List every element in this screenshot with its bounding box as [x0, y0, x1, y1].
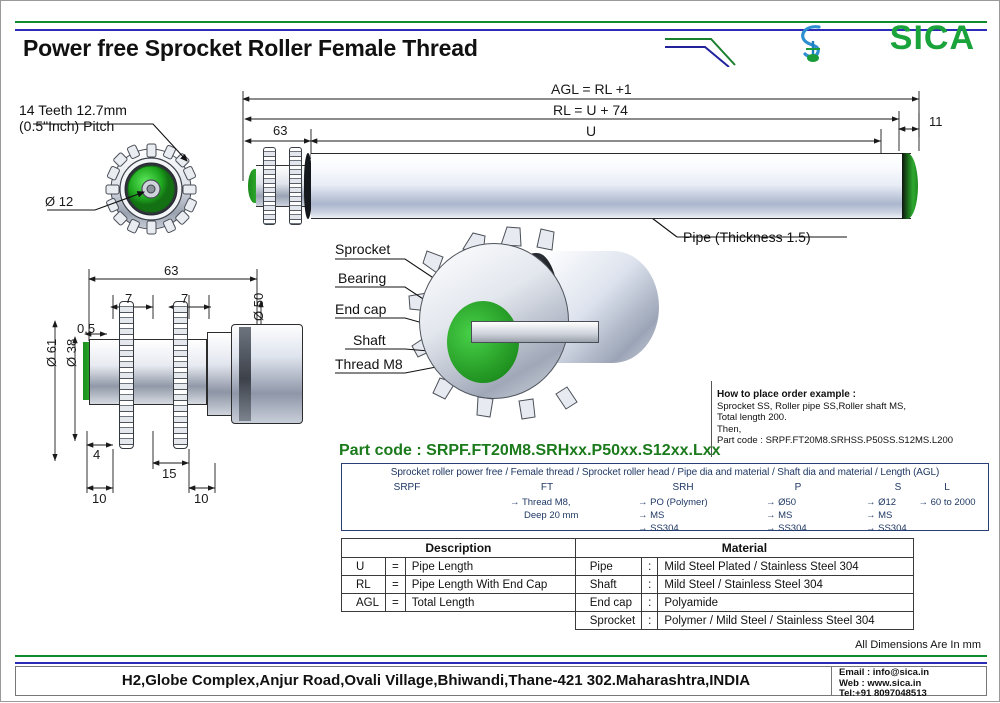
page-title: Power free Sprocket Roller Female Thread: [23, 35, 478, 62]
mat-key-sprocket: Sprocket: [575, 612, 641, 630]
dim-u: U: [586, 123, 596, 139]
order-line-4: Part code : SRPF.FT20M8.SRHSS.P50SS.S12M…: [717, 435, 989, 447]
part-code-label: Part code :: [339, 442, 426, 459]
side-dim-10-left: 10: [92, 491, 106, 506]
sprocket-face-view: [33, 124, 197, 234]
mat-key-pipe: Pipe: [575, 558, 641, 576]
order-line-2: Total length 200.: [717, 412, 989, 424]
desc-eq-rl: =: [386, 576, 406, 594]
side-dim-dia50: Ø 50: [251, 293, 266, 321]
code-table-header: Sprocket roller power free / Female thre…: [342, 467, 988, 478]
desc-val-agl: Total Length: [405, 594, 575, 612]
order-example-box: How to place order example : Sprocket SS…: [717, 389, 989, 453]
mat-key-shaft: Shaft: [575, 576, 641, 594]
side-dim-63: 63: [164, 263, 178, 278]
footer-separator: [831, 667, 832, 695]
code-col-srh: SRH → PO (Polymer) → MS → SS304: [618, 481, 748, 535]
desc-eq-u: =: [386, 558, 406, 576]
main-sprocket-1: [263, 147, 276, 225]
mat-val-shaft: Mild Steel / Stainless Steel 304: [658, 576, 914, 594]
side-dim-dia38: Ø 38: [64, 339, 79, 367]
all-dimensions-note: All Dimensions Are In mm: [855, 639, 981, 651]
label-end-cap: End cap: [335, 301, 386, 317]
mat-sep-shaft: :: [642, 576, 658, 594]
side-sprocket-1: [119, 301, 134, 449]
cutaway-shaft: [471, 321, 599, 343]
label-bearing: Bearing: [338, 270, 386, 286]
code-breakdown-table: Sprocket roller power free / Female thre…: [341, 463, 989, 531]
desc-val-rl: Pipe Length With End Cap: [405, 576, 575, 594]
pipe-thickness-label: Pipe (Thickness 1.5): [683, 229, 811, 245]
code-col-ft: FT → Thread M8, Deep 20 mm: [482, 481, 612, 522]
side-dim-15: 15: [162, 466, 176, 481]
footer-address: H2,Globe Complex,Anjur Road,Ovali Villag…: [41, 672, 831, 689]
code-col-l: L → 60 to 2000: [902, 481, 992, 509]
order-heading: How to place order example :: [717, 389, 989, 401]
logo-text: SICA: [890, 19, 975, 58]
footer-contact: Email : info@sica.in Web : www.sica.in T…: [839, 668, 929, 700]
mat-val-pipe: Mild Steel Plated / Stainless Steel 304: [658, 558, 914, 576]
side-sprocket-2: [173, 301, 188, 449]
company-logo: SICA: [745, 15, 985, 67]
desc-key-u: U: [342, 558, 386, 576]
code-col-srpf: SRPF: [352, 481, 462, 496]
spec-table: Description Material U = Pipe Length Pip…: [341, 538, 914, 630]
order-line-1: Sprocket SS, Roller pipe SS,Roller shaft…: [717, 401, 989, 413]
teeth-note-line2: (0.5"Inch) Pitch: [19, 118, 127, 134]
side-dim-dia61: Ø 61: [44, 339, 59, 367]
datasheet-page: Power free Sprocket Roller Female Thread…: [0, 0, 1000, 702]
mat-key-endcap: End cap: [575, 594, 641, 612]
description-header: Description: [342, 539, 576, 558]
table-row: RL = Pipe Length With End Cap Shaft : Mi…: [342, 576, 914, 594]
table-row: Sprocket : Polymer / Mild Steel / Stainl…: [342, 612, 914, 630]
desc-key-rl: RL: [342, 576, 386, 594]
label-thread: Thread M8: [335, 356, 403, 372]
desc-eq-agl: =: [386, 594, 406, 612]
mat-sep-endcap: :: [642, 594, 658, 612]
table-row: AGL = Total Length End cap : Polyamide: [342, 594, 914, 612]
footer-web: Web : www.sica.in: [839, 679, 929, 689]
bore-dia-label: Ø 12: [45, 194, 73, 209]
main-end-cap-right: [902, 153, 918, 219]
main-sprocket-2: [289, 147, 302, 225]
dim-left-63: 63: [273, 123, 287, 138]
desc-key-agl: AGL: [342, 594, 386, 612]
teeth-note-line1: 14 Teeth 12.7mm: [19, 102, 127, 118]
mat-val-endcap: Polyamide: [658, 594, 914, 612]
dim-rl: RL = U + 74: [553, 102, 628, 118]
dim-right-11: 11: [929, 114, 943, 129]
side-dim-10-right: 10: [194, 491, 208, 506]
side-pipe-collar: [239, 327, 251, 421]
teeth-note: 14 Teeth 12.7mm (0.5"Inch) Pitch: [19, 102, 127, 134]
label-sprocket: Sprocket: [335, 241, 390, 257]
dim-agl: AGL = RL +1: [551, 81, 632, 97]
mat-sep-pipe: :: [642, 558, 658, 576]
table-row: U = Pipe Length Pipe : Mild Steel Plated…: [342, 558, 914, 576]
main-pipe-body: [311, 153, 911, 219]
footer-rule-blue: [15, 662, 987, 664]
part-code: Part code : SRPF.FT20M8.SRHxx.P50xx.S12x…: [339, 442, 721, 460]
table-header-row: Description Material: [342, 539, 914, 558]
mat-sep-sprocket: :: [642, 612, 658, 630]
desc-val-u: Pipe Length: [405, 558, 575, 576]
side-dim-4: 4: [93, 447, 100, 462]
side-dim-0-5: 0.5: [77, 321, 95, 336]
footer-email: Email : info@sica.in: [839, 668, 929, 678]
label-shaft: Shaft: [353, 332, 386, 348]
logo-swoosh-icon: [665, 21, 795, 67]
side-dim-7-left: 7: [125, 291, 132, 306]
side-hub-body: [89, 339, 207, 405]
order-line-3: Then,: [717, 424, 989, 436]
material-header: Material: [575, 539, 913, 558]
side-dim-7-right: 7: [181, 291, 188, 306]
part-code-value: SRPF.FT20M8.SRHxx.P50xx.S12xx.Lxx: [426, 442, 720, 459]
footer-rule-green: [15, 655, 987, 657]
mat-val-sprocket: Polymer / Mild Steel / Stainless Steel 3…: [658, 612, 914, 630]
logo-emblem-icon: [793, 21, 833, 65]
footer-tel: Tel:+91 8097048513: [839, 689, 929, 699]
side-cone: [207, 332, 233, 416]
